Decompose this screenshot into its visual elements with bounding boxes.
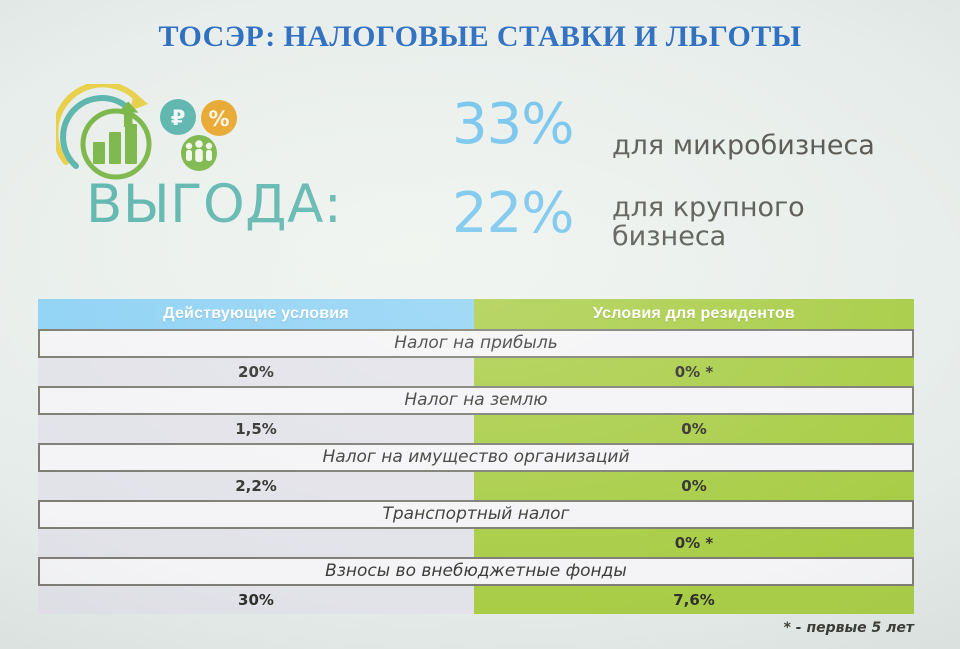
table-row: 0% *	[38, 529, 914, 557]
table-row: 2,2% 0%	[38, 472, 914, 500]
table-category-row: Налог на землю	[38, 386, 914, 415]
table-row: 20% 0% *	[38, 358, 914, 386]
table-cell-resident: 7,6%	[474, 586, 914, 614]
table-cell-current: 30%	[38, 586, 474, 614]
ruble-circle-icon: ₽	[160, 99, 196, 135]
table-category-label: Взносы во внебюджетные фонды	[40, 563, 912, 580]
table-category-row: Налог на прибыль	[38, 329, 914, 358]
table-cell-resident: 0% *	[474, 358, 914, 386]
svg-text:%: %	[208, 107, 229, 131]
tax-rates-table: Действующие условия Условия для резидент…	[38, 299, 914, 614]
percent-circle-icon: %	[201, 100, 237, 136]
table-category-label: Налог на землю	[40, 392, 912, 409]
benefit-percent-micro: 33%	[452, 97, 573, 153]
table-row: 30% 7,6%	[38, 586, 914, 614]
page-title: ТОСЭР: НАЛОГОВЫЕ СТАВКИ И ЛЬГОТЫ	[0, 20, 960, 54]
people-circle-icon	[181, 135, 217, 171]
benefit-label-micro: для микробизнеса	[612, 131, 875, 160]
svg-text:₽: ₽	[171, 106, 186, 130]
benefit-label-large: для крупного бизнеса	[612, 193, 805, 251]
table-header-current: Действующие условия	[38, 299, 474, 329]
table-cell-resident: 0%	[474, 415, 914, 443]
slide-canvas: ТОСЭР: НАЛОГОВЫЕ СТАВКИ И ЛЬГОТЫ	[0, 0, 960, 649]
table-cell-current	[38, 529, 474, 557]
table-category-label: Налог на имущество организаций	[40, 449, 912, 466]
table-category-label: Налог на прибыль	[40, 335, 912, 352]
table-cell-current: 2,2%	[38, 472, 474, 500]
benefit-percent-large: 22%	[452, 186, 573, 242]
table-category-row: Транспортный налог	[38, 500, 914, 529]
table-category-row: Взносы во внебюджетные фонды	[38, 557, 914, 586]
table-header-row: Действующие условия Условия для резидент…	[38, 299, 914, 329]
table-cell-resident: 0%	[474, 472, 914, 500]
table-category-label: Транспортный налог	[40, 506, 912, 523]
table-category-row: Налог на имущество организаций	[38, 443, 914, 472]
table-row: 1,5% 0%	[38, 415, 914, 443]
table-header-resident: Условия для резидентов	[474, 299, 914, 329]
benefit-word: ВЫГОДА:	[86, 178, 342, 231]
table-cell-resident: 0% *	[474, 529, 914, 557]
table-footnote: * - первые 5 лет	[38, 620, 914, 636]
table-cell-current: 1,5%	[38, 415, 474, 443]
table-cell-current: 20%	[38, 358, 474, 386]
